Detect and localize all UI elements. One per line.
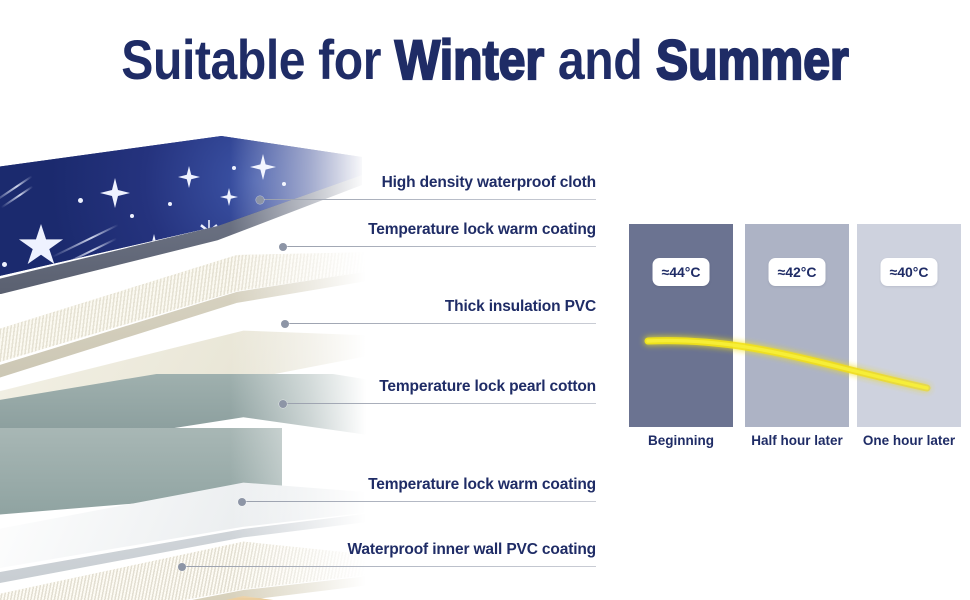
callout-dot — [279, 243, 287, 251]
chart-panel-beginning: ≈44°C — [629, 224, 733, 427]
callout-waterproof-inner-wall-pvc-coating: Waterproof inner wall PVC coating — [182, 537, 596, 567]
callout-dot — [238, 498, 246, 506]
callout-temperature-lock-warm-coating-lower: Temperature lock warm coating — [242, 472, 596, 502]
star-dot-icon — [78, 198, 83, 203]
star-dot-icon — [2, 262, 7, 267]
callout-label: Waterproof inner wall PVC coating — [347, 541, 596, 559]
page-title: Suitable forWinterandSummer — [68, 28, 902, 92]
promo-banner: Suitable forWinterandSummer — [0, 0, 970, 600]
temperature-retention-chart: ≈44°C ≈42°C ≈40°C Beginnin — [629, 224, 961, 456]
chart-category-label-half-hour-later: Half hour later — [739, 433, 855, 448]
callout-line — [242, 501, 596, 502]
callout-line — [182, 566, 596, 567]
callout-label: Temperature lock pearl cotton — [379, 378, 596, 396]
star-dot-icon — [168, 202, 172, 206]
temperature-badge: ≈44°C — [653, 258, 710, 286]
callout-temperature-lock-pearl-cotton: Temperature lock pearl cotton — [283, 374, 596, 404]
star-icon — [100, 178, 130, 208]
star-dot-icon — [130, 214, 134, 218]
callout-label: High density waterproof cloth — [382, 174, 596, 192]
callout-line — [283, 246, 596, 247]
callout-high-density-waterproof-cloth: High density waterproof cloth — [260, 170, 596, 200]
callout-dot — [256, 196, 264, 204]
callout-label: Temperature lock warm coating — [368, 476, 596, 494]
callout-dot — [281, 320, 289, 328]
shooting-star-icon — [1, 186, 34, 209]
title-part-and: and — [558, 28, 642, 91]
temperature-badge: ≈40°C — [881, 258, 938, 286]
chart-panel-one-hour-later: ≈40°C — [857, 224, 961, 427]
callout-label: Thick insulation PVC — [445, 298, 596, 316]
star-icon — [178, 166, 200, 188]
callout-line — [260, 199, 596, 200]
title-part-winter: Winter — [395, 28, 544, 91]
callout-label: Temperature lock warm coating — [368, 221, 596, 239]
title-part-summer: Summer — [656, 28, 849, 91]
temperature-badge: ≈42°C — [769, 258, 826, 286]
chart-category-label-beginning: Beginning — [629, 433, 733, 448]
chart-panel-half-hour-later: ≈42°C — [745, 224, 849, 427]
star-dot-icon — [232, 166, 236, 170]
chart-category-label-one-hour-later: One hour later — [853, 433, 965, 448]
title-part-suitable-for: Suitable for — [121, 28, 381, 91]
callout-line — [285, 323, 596, 324]
callout-temperature-lock-warm-coating-upper: Temperature lock warm coating — [283, 217, 596, 247]
star-icon — [220, 188, 238, 206]
callout-dot — [279, 400, 287, 408]
star-icon — [18, 224, 64, 268]
callout-thick-insulation-pvc: Thick insulation PVC — [285, 294, 596, 324]
callout-line — [283, 403, 596, 404]
callout-dot — [178, 563, 186, 571]
